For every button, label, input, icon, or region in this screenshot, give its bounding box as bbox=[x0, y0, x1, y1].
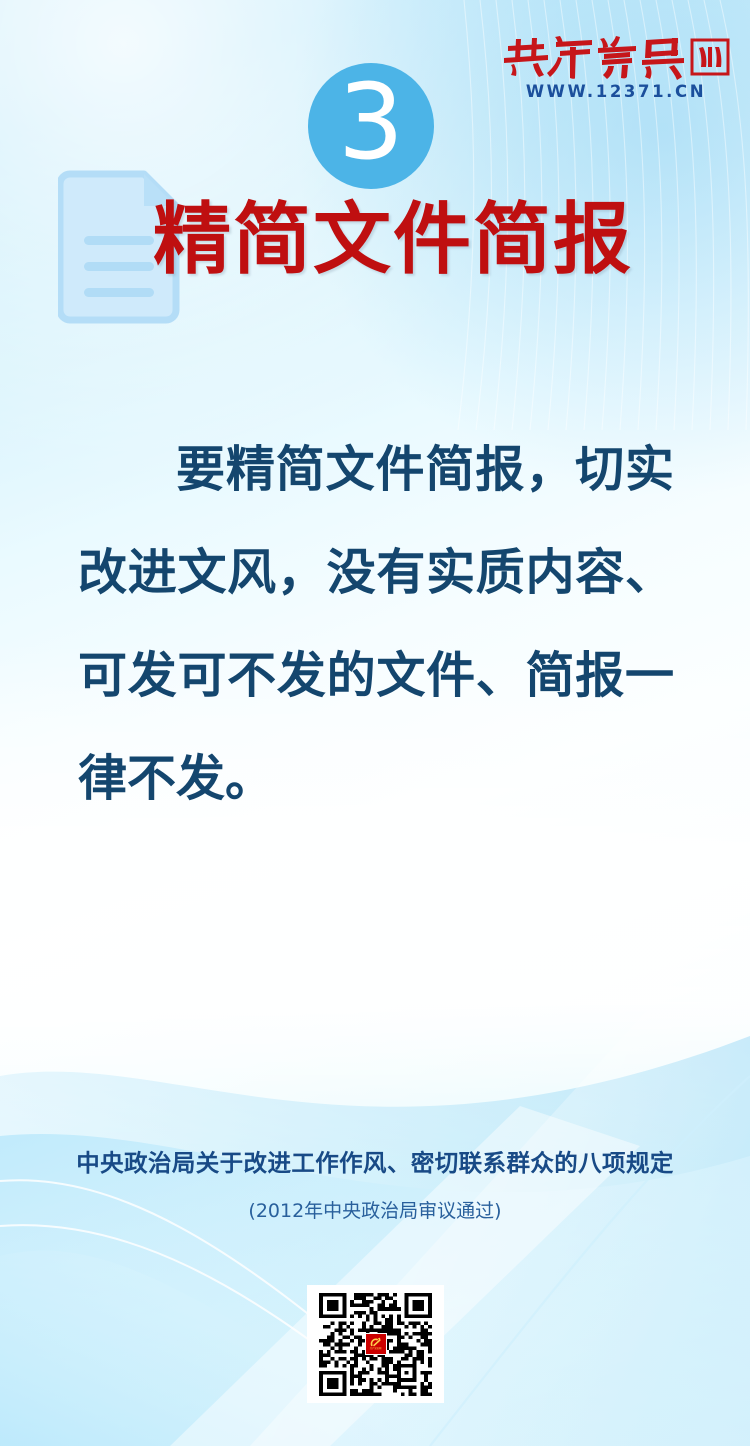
brand-url-text: WWW.12371.CN bbox=[500, 82, 732, 101]
step-number-text: 3 bbox=[338, 70, 404, 174]
page-title: 精简文件简报 bbox=[0, 200, 750, 282]
qr-center-logo-text: 共产党员网 bbox=[370, 1348, 382, 1350]
footer-block: 中央政治局关于改进工作作风、密切联系群众的八项规定 (2012年中央政治局审议通… bbox=[0, 1148, 750, 1223]
qr-center-party-logo: 共产党员网 bbox=[365, 1333, 387, 1355]
brand-calligraphy-logo-icon bbox=[500, 34, 732, 80]
poster-canvas: WWW.12371.CN 3 精简文件简报 要精简文件简报，切实改进文风，没有实… bbox=[0, 0, 750, 1446]
qr-code-inner: 共产党员网 bbox=[319, 1293, 432, 1396]
brand-logo[interactable]: WWW.12371.CN bbox=[500, 34, 732, 101]
body-paragraph: 要精简文件简报，切实改进文风，没有实质内容、可发可不发的文件、简报一律不发。 bbox=[78, 418, 674, 830]
footer-regulation-title: 中央政治局关于改进工作作风、密切联系群众的八项规定 bbox=[0, 1148, 750, 1179]
footer-regulation-subtitle: (2012年中央政治局审议通过) bbox=[0, 1196, 750, 1223]
step-number-badge: 3 bbox=[308, 63, 434, 189]
qr-code-block[interactable]: 共产党员网 bbox=[307, 1285, 444, 1403]
